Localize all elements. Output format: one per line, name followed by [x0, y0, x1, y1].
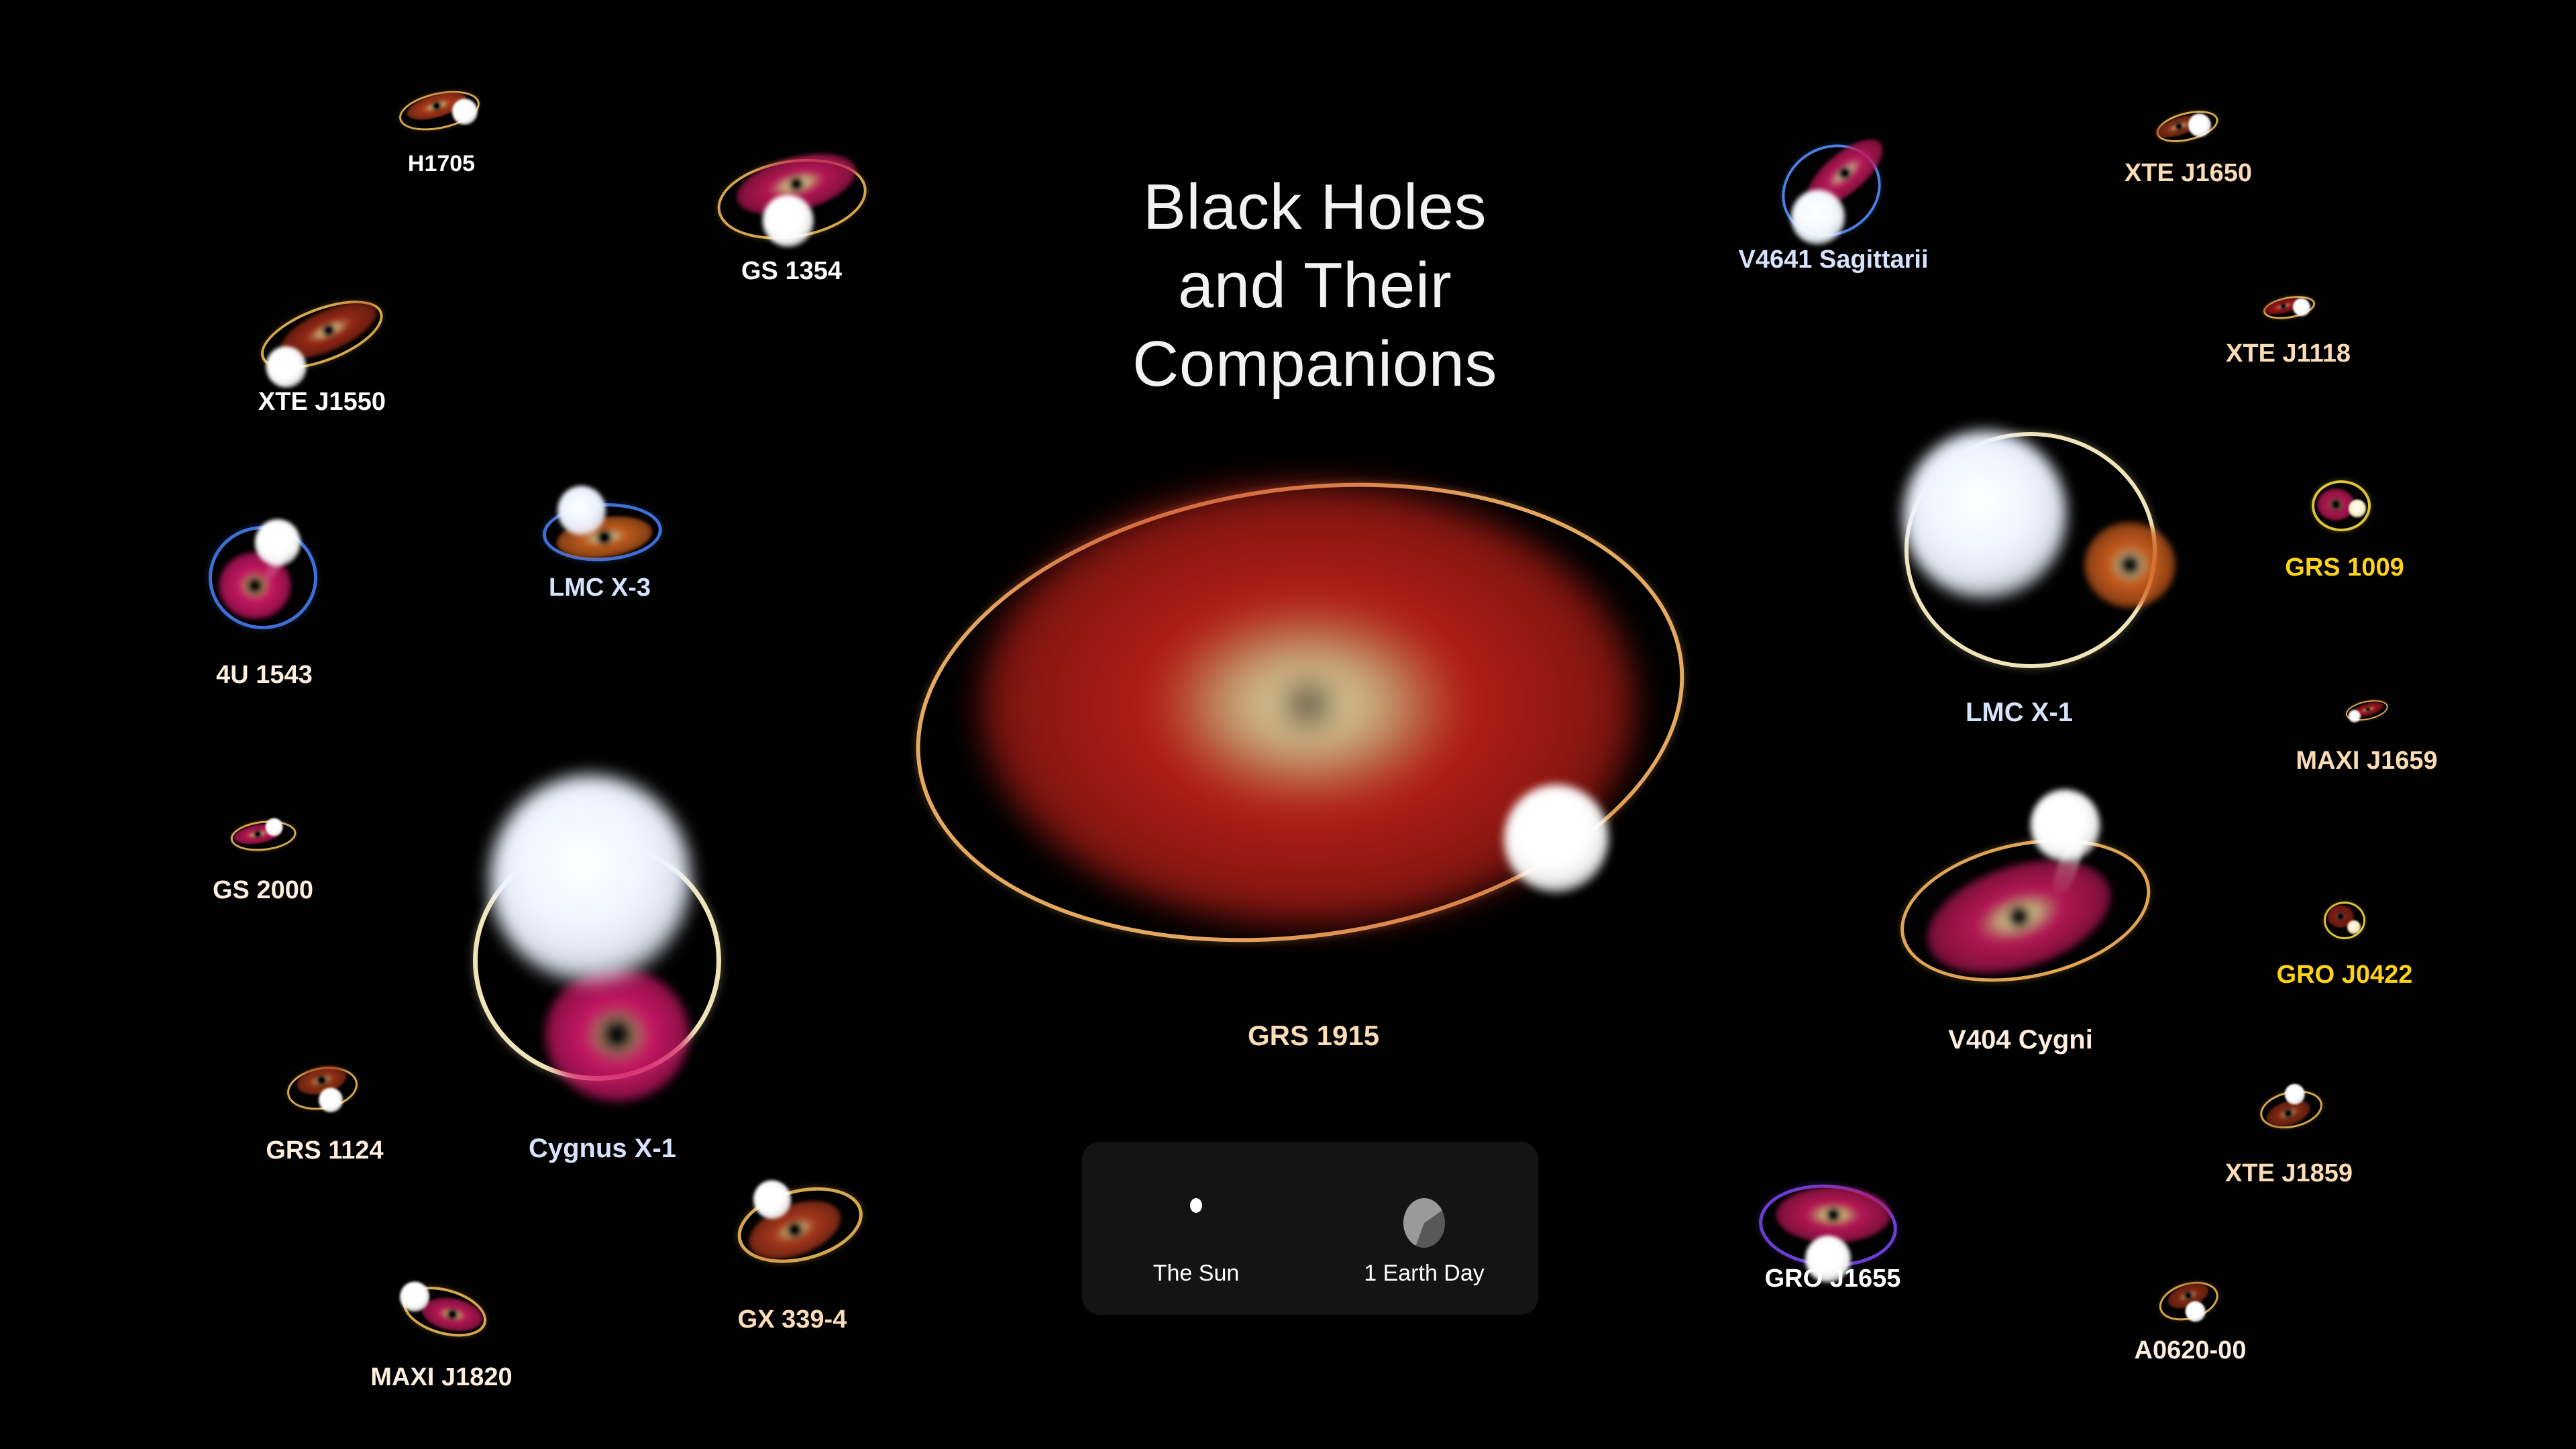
legend-item-one-earth-day: 1 Earth Day — [1310, 1142, 1538, 1315]
system-label-grs1124[interactable]: GRS 1124 — [266, 1136, 383, 1165]
system-label-xtej1650[interactable]: XTE J1650 — [2125, 159, 2252, 188]
system-label-a062000[interactable]: A0620-00 — [2135, 1336, 2247, 1365]
system-label-lmcx1[interactable]: LMC X-1 — [1966, 698, 2073, 728]
black-hole-shadow — [2333, 502, 2339, 508]
system-label-xtej1118[interactable]: XTE J1118 — [2226, 339, 2351, 368]
legend-item-the-sun: The Sun — [1082, 1142, 1310, 1315]
black-hole-shadow — [1830, 1212, 1837, 1218]
black-hole-shadow — [251, 582, 259, 590]
scale-legend: The Sun 1 Earth Day — [1082, 1142, 1538, 1315]
accretion-disk — [1776, 1187, 1891, 1243]
system-label-xtej1550[interactable]: XTE J1550 — [258, 388, 386, 417]
companion-star — [1504, 785, 1609, 893]
earth-day-pie-icon — [1403, 1198, 1445, 1248]
black-hole-infographic: Black Holes and Their Companions H1705GS… — [0, 0, 2576, 1449]
system-label-h1705[interactable]: H1705 — [408, 151, 475, 177]
legend-label-the-sun: The Sun — [1082, 1260, 1310, 1287]
system-label-cygnusx1[interactable]: Cygnus X-1 — [529, 1134, 676, 1164]
black-hole-shadow — [609, 1026, 625, 1042]
legend-label-one-earth-day: 1 Earth Day — [1310, 1260, 1538, 1287]
system-label-4u1543[interactable]: 4U 1543 — [216, 661, 313, 690]
black-hole-shadow — [2339, 914, 2343, 919]
page-title: Black Holes and Their Companions — [993, 168, 1637, 403]
accretion-disk — [545, 967, 690, 1102]
companion-star — [1903, 431, 2067, 599]
system-label-groj0422[interactable]: GRO J0422 — [2277, 961, 2413, 989]
system-label-gs1354[interactable]: GS 1354 — [741, 257, 842, 286]
system-label-v4641sgr[interactable]: V4641 Sagittarii — [1738, 246, 1928, 274]
sun-dot-icon — [1190, 1198, 1202, 1213]
system-label-grs1915[interactable]: GRS 1915 — [1248, 1020, 1379, 1052]
system-label-xtej1859[interactable]: XTE J1859 — [2225, 1159, 2353, 1188]
companion-star — [2347, 920, 2361, 934]
black-hole-shadow — [2125, 560, 2135, 570]
system-label-gs2000[interactable]: GS 2000 — [213, 876, 313, 905]
system-label-v404cyg[interactable]: V404 Cygni — [1948, 1025, 2093, 1055]
system-label-maxij1659[interactable]: MAXI J1659 — [2296, 747, 2437, 775]
companion-star — [2349, 500, 2366, 518]
system-label-groj1655[interactable]: GRO J1655 — [1765, 1265, 1901, 1293]
system-label-lmcx3[interactable]: LMC X-3 — [549, 574, 651, 602]
system-label-grs1009[interactable]: GRS 1009 — [2285, 553, 2404, 582]
system-label-maxij1820[interactable]: MAXI J1820 — [370, 1363, 512, 1392]
black-hole-shadow — [1299, 696, 1317, 713]
accretion-disk — [2084, 522, 2176, 608]
system-label-gx3394[interactable]: GX 339-4 — [738, 1305, 847, 1334]
companion-star — [255, 519, 301, 566]
companion-star — [1791, 190, 1845, 245]
companion-star — [490, 775, 691, 983]
black-hole-shadow — [2282, 304, 2286, 308]
